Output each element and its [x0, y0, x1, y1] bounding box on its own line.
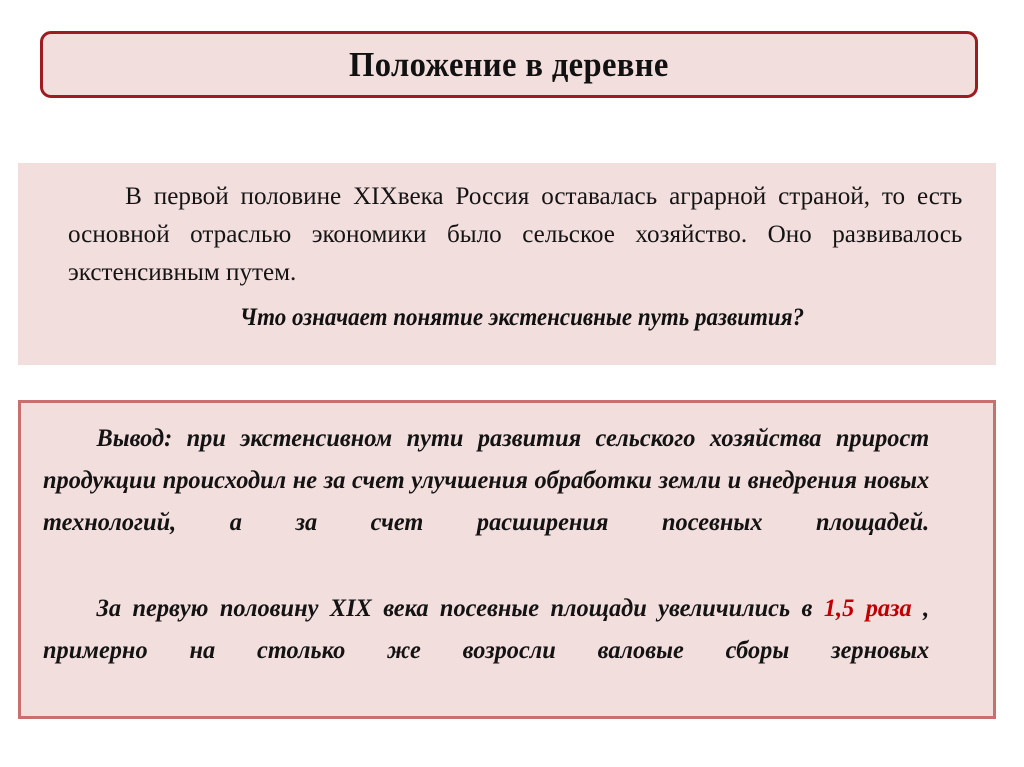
intro-paragraph: В первой половине XIXвека Россия оставал…	[68, 177, 962, 291]
intro-panel: В первой половине XIXвека Россия оставал…	[18, 163, 996, 365]
conclusion-paragraph-2-before: За первую половину XIX века посевные пло…	[96, 593, 823, 622]
slide-title-banner: Положение в деревне	[40, 31, 978, 98]
page-title: Положение в деревне	[349, 47, 669, 82]
intro-question: Что означает понятие экстенсивные путь р…	[104, 301, 939, 335]
slide-root: { "slide": { "title": "Положение в дерев…	[0, 0, 1024, 767]
conclusion-paragraph-2: За первую половину XIX века посевные пло…	[43, 587, 929, 713]
conclusion-paragraph-1: Вывод: при экстенсивном пути развития се…	[43, 417, 929, 585]
conclusion-panel: Вывод: при экстенсивном пути развития се…	[18, 400, 996, 719]
conclusion-accent-value: 1,5 раза	[824, 593, 912, 622]
